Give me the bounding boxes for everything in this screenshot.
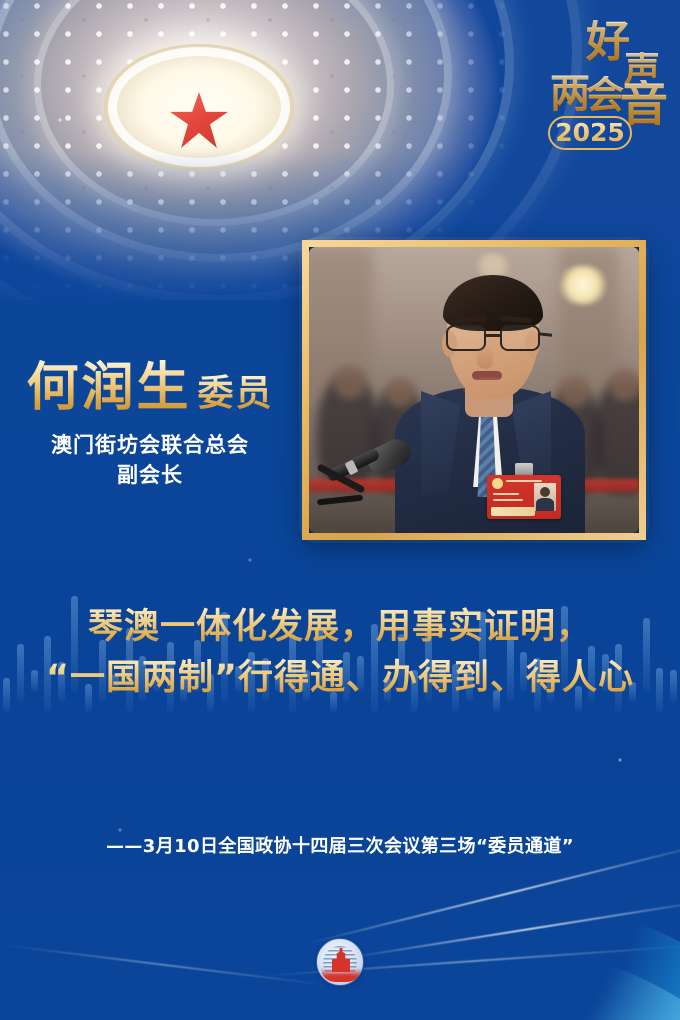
- glasses-bridge: [486, 334, 500, 337]
- glasses-temple: [538, 332, 552, 336]
- speaker-title-suffix: 委员: [198, 373, 274, 414]
- logo-char-liang: 两: [550, 74, 590, 114]
- speaker-nose: [477, 345, 493, 369]
- quote-block: 琴澳一体化发展，用事实证明， “一国两制”行得通、办得到、得人心: [0, 602, 680, 704]
- brand-logo: 好 声 音 两 会 2025: [548, 18, 674, 160]
- poster-root: 好 声 音 两 会 2025: [0, 0, 680, 1020]
- emblem-banner-arc: [321, 968, 361, 982]
- badge-emblem-icon: [492, 478, 503, 489]
- glasses-lens-right: [500, 325, 540, 351]
- badge-text-line-2: [493, 493, 519, 495]
- badge-text-line-1: [506, 480, 542, 482]
- quote-line-1: 琴澳一体化发展，用事实证明，: [0, 602, 680, 653]
- speaker-name: 何润生: [26, 358, 191, 418]
- logo-year-label: 2025: [548, 116, 632, 150]
- cppcc-emblem-icon: [316, 938, 364, 986]
- hall-lamp-icon: [557, 265, 609, 305]
- badge-name-strip: [491, 507, 535, 516]
- crowd-head-3: [559, 375, 591, 407]
- delegate-badge: [487, 475, 561, 519]
- bottom-wave-graphic: [0, 840, 680, 1020]
- crowd-head-2: [385, 377, 415, 407]
- event-caption: ——3月10日全国政协十四届三次会议第三场“委员通道”: [0, 832, 680, 858]
- speaker-name-row: 何润生委员: [0, 362, 300, 414]
- badge-text-line-3: [493, 499, 523, 501]
- logo-char-hui: 会: [586, 76, 624, 114]
- badge-photo-thumb: [534, 483, 556, 511]
- quote-line-2: “一国两制”行得通、办得到、得人心: [0, 653, 680, 704]
- speaker-org-line-2: 副会长: [0, 462, 300, 490]
- microphone-stand-lower: [317, 495, 363, 506]
- crowd-head-1: [333, 365, 367, 399]
- speaker-org-line-1: 澳门街坊会联合总会: [0, 432, 300, 460]
- speaker-photo-frame: [302, 240, 646, 540]
- crowd-head-4: [609, 369, 639, 401]
- glasses-icon: [444, 325, 544, 351]
- speaker-photo: [309, 247, 639, 533]
- speaker-name-block: 何润生委员 澳门街坊会联合总会 副会长: [0, 362, 300, 489]
- speaker-chin: [463, 377, 515, 401]
